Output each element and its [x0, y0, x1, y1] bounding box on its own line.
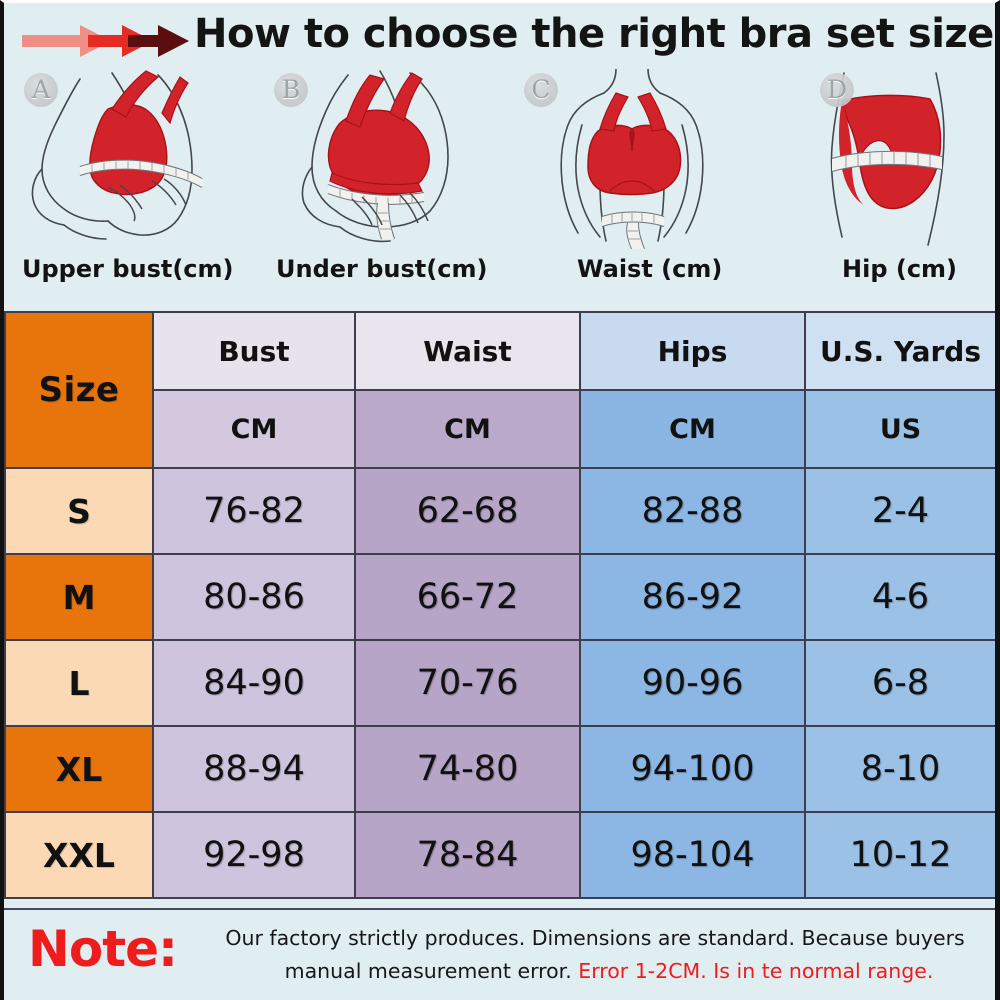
- cell-waist: 70-76: [355, 640, 580, 726]
- cell-hips: 94-100: [580, 726, 805, 812]
- cell-bust: 76-82: [153, 468, 355, 554]
- figure-label-under-bust: Under bust(cm): [276, 255, 487, 283]
- measurement-guide-panel: How to choose the right bra set size: [4, 3, 995, 311]
- cell-hips: 90-96: [580, 640, 805, 726]
- cell-bust: 92-98: [153, 812, 355, 898]
- note-line-2-red: Error 1-2CM. Is in te normal range.: [578, 959, 933, 983]
- cell-hips: 98-104: [580, 812, 805, 898]
- unit-bust: CM: [153, 390, 355, 468]
- arrow-dark-icon: [100, 23, 190, 59]
- cell-size: S: [5, 468, 153, 554]
- cell-us: 8-10: [805, 726, 996, 812]
- table-row: S 76-82 62-68 82-88 2-4: [5, 468, 996, 554]
- cell-size: L: [5, 640, 153, 726]
- note-bar: Note: Our factory strictly produces. Dim…: [4, 908, 995, 1000]
- cell-size: M: [5, 554, 153, 640]
- table-row: XXL 92-98 78-84 98-104 10-12: [5, 812, 996, 898]
- unit-us: US: [805, 390, 996, 468]
- cell-hips: 86-92: [580, 554, 805, 640]
- size-table: Size Bust Waist Hips U.S. Yards CM CM CM…: [4, 311, 997, 899]
- cell-waist: 74-80: [355, 726, 580, 812]
- figure-label-upper-bust: Upper bust(cm): [22, 255, 234, 283]
- figure-badge-d: D: [820, 73, 854, 107]
- cell-waist: 62-68: [355, 468, 580, 554]
- cell-waist: 66-72: [355, 554, 580, 640]
- table-row: M 80-86 66-72 86-92 4-6: [5, 554, 996, 640]
- cell-us: 6-8: [805, 640, 996, 726]
- figure-under-bust: B: [262, 69, 512, 249]
- header-hips: Hips: [580, 312, 805, 390]
- figure-upper-bust: A: [12, 69, 262, 249]
- note-line-1: Our factory strictly produces. Dimension…: [200, 922, 990, 955]
- size-chart-page: How to choose the right bra set size: [0, 0, 1000, 1000]
- table-header-row-units: CM CM CM US: [5, 390, 996, 468]
- cell-size: XXL: [5, 812, 153, 898]
- cell-us: 10-12: [805, 812, 996, 898]
- cell-bust: 88-94: [153, 726, 355, 812]
- figure-badge-c: C: [524, 73, 558, 107]
- table-row: XL 88-94 74-80 94-100 8-10: [5, 726, 996, 812]
- header-waist: Waist: [355, 312, 580, 390]
- header-bust: Bust: [153, 312, 355, 390]
- figure-badge-b: B: [274, 73, 308, 107]
- figure-hip: D: [760, 69, 996, 249]
- cell-us: 4-6: [805, 554, 996, 640]
- cell-size: XL: [5, 726, 153, 812]
- note-line-2-black: manual measurement error.: [285, 959, 579, 983]
- note-text-block: Our factory strictly produces. Dimension…: [200, 922, 990, 988]
- note-line-2: manual measurement error. Error 1-2CM. I…: [200, 955, 990, 988]
- table-row: L 84-90 70-76 90-96 6-8: [5, 640, 996, 726]
- figure-label-waist: Waist (cm): [577, 255, 722, 283]
- cell-waist: 78-84: [355, 812, 580, 898]
- header-size: Size: [5, 312, 153, 468]
- arrow-group-icon: [22, 23, 190, 59]
- title-row: How to choose the right bra set size: [4, 9, 995, 69]
- page-title: How to choose the right bra set size: [194, 11, 994, 57]
- unit-waist: CM: [355, 390, 580, 468]
- figure-label-hip: Hip (cm): [842, 255, 957, 283]
- cell-bust: 84-90: [153, 640, 355, 726]
- panty-hip-icon: [760, 69, 996, 249]
- figure-badge-a: A: [24, 73, 58, 107]
- cell-us: 2-4: [805, 468, 996, 554]
- figure-waist: C: [512, 69, 760, 249]
- header-us-yards: U.S. Yards: [805, 312, 996, 390]
- note-label: Note:: [28, 920, 177, 978]
- cell-bust: 80-86: [153, 554, 355, 640]
- cell-hips: 82-88: [580, 468, 805, 554]
- table-header-row-names: Size Bust Waist Hips U.S. Yards: [5, 312, 996, 390]
- unit-hips: CM: [580, 390, 805, 468]
